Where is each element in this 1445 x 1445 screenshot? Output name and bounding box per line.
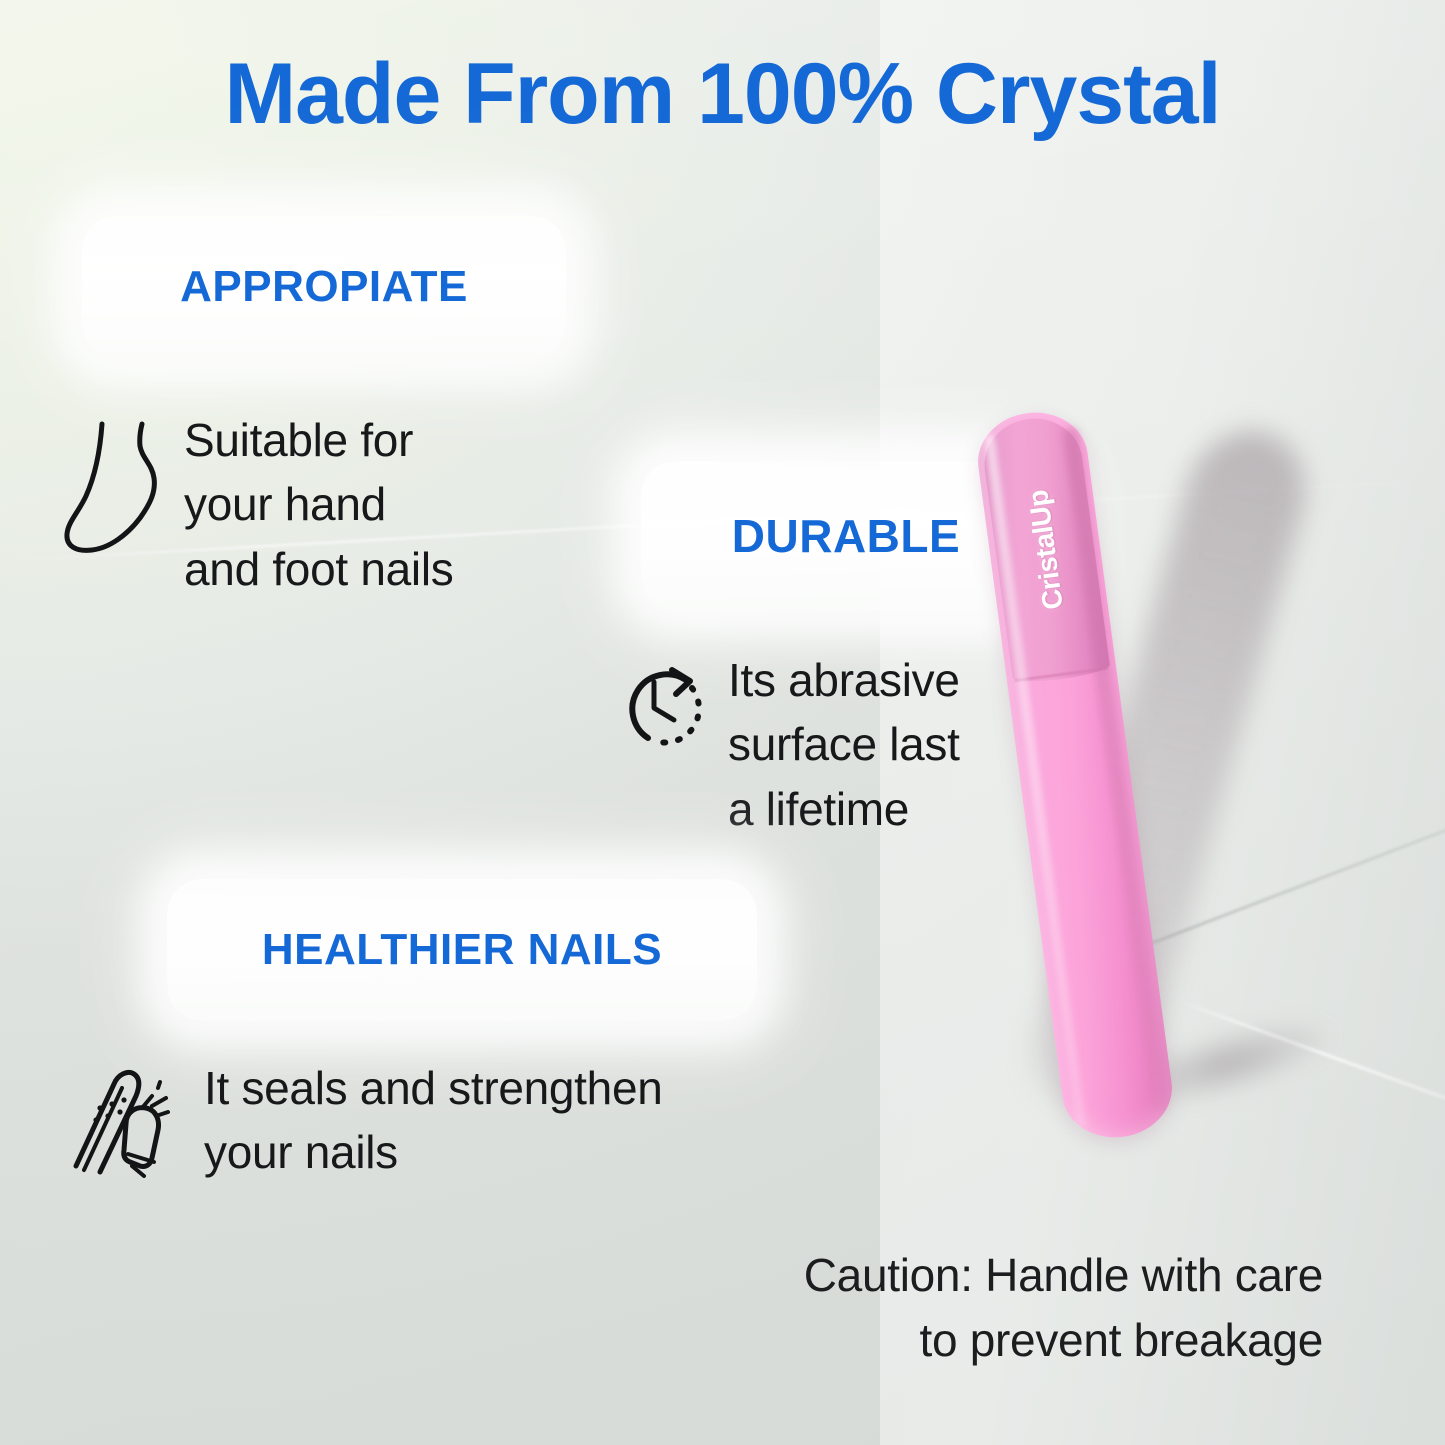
foot-outline-icon xyxy=(62,418,166,563)
clock-arrow-icon xyxy=(612,656,710,761)
infographic-canvas: Made From 100% Crystal APPROPIATE Suitab… xyxy=(0,0,1445,1445)
page-title-bold: 100% Crystal xyxy=(697,46,1220,142)
badge-healthier-nails: HEALTHIER NAILS xyxy=(167,879,757,1021)
caution-note: Caution: Handle with care to prevent bre… xyxy=(623,1243,1323,1374)
nail-file-finger-icon xyxy=(68,1062,186,1185)
badge-healthier-nails-label: HEALTHIER NAILS xyxy=(262,925,662,975)
feature-suitable: Suitable for your hand and foot nails xyxy=(62,408,602,601)
feature-seals-text: It seals and strengthen your nails xyxy=(204,1056,663,1185)
badge-appropiate-label: APPROPIATE xyxy=(180,262,468,312)
feature-suitable-text: Suitable for your hand and foot nails xyxy=(184,408,453,601)
page-title: Made From 100% Crystal xyxy=(0,48,1445,141)
badge-appropiate: APPROPIATE xyxy=(82,216,566,358)
product-image: CristalUp xyxy=(960,380,1380,1180)
badge-durable-label: DURABLE xyxy=(732,509,960,563)
page-title-light: Made From xyxy=(224,46,697,142)
feature-seals: It seals and strengthen your nails xyxy=(68,1056,858,1185)
feature-durable-text: Its abrasive surface last a lifetime xyxy=(728,648,960,841)
